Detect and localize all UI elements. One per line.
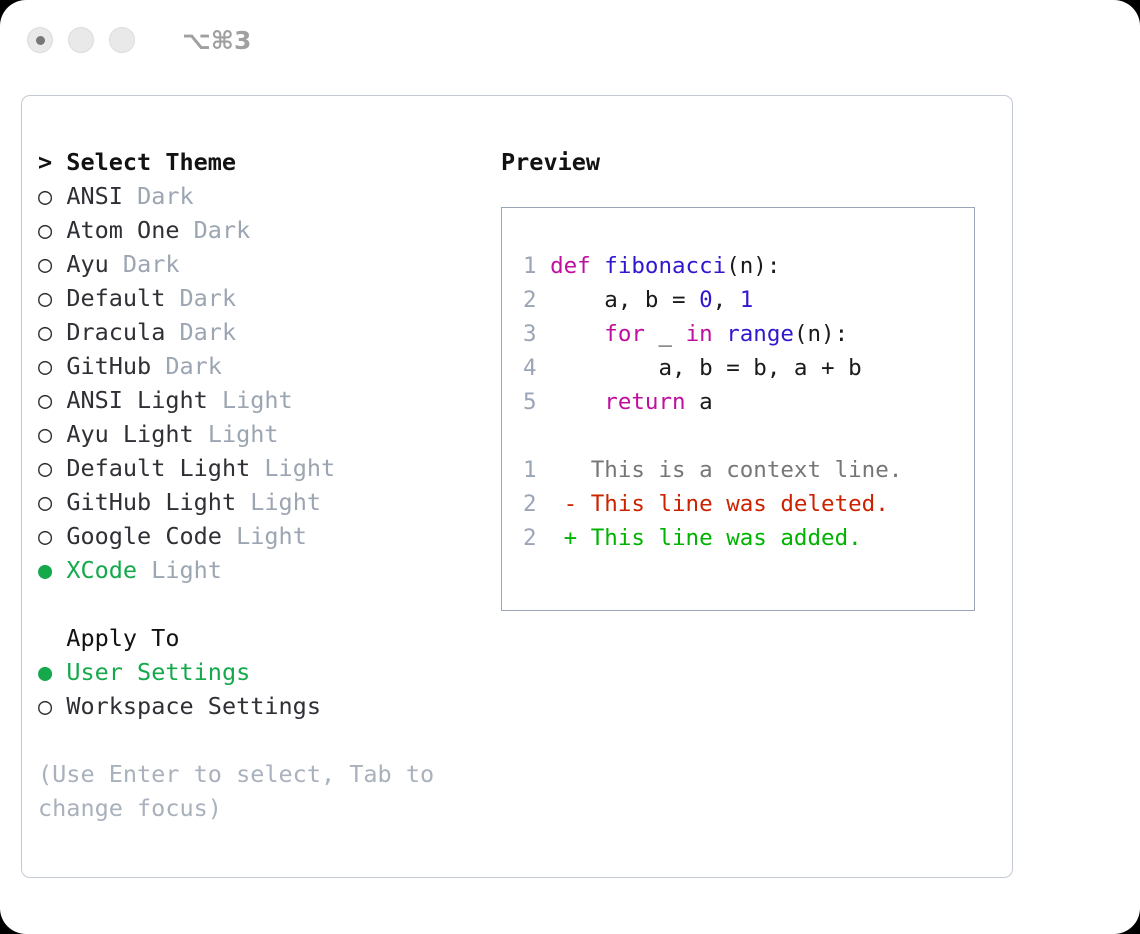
code-line: 4 a, b = b, a + b xyxy=(523,351,974,385)
theme-name: Ayu Light xyxy=(66,420,193,448)
window-dot-two[interactable] xyxy=(68,27,94,53)
theme-name: GitHub Light xyxy=(66,488,236,516)
radio-unselected-icon: ○ xyxy=(38,250,52,278)
code-token: def xyxy=(550,253,591,279)
diff-sample: 1 This is a context line.2 - This line w… xyxy=(523,453,974,555)
theme-name: Dracula xyxy=(66,318,165,346)
diff-sign: + xyxy=(564,525,578,551)
radio-unselected-icon: ○ xyxy=(38,522,52,550)
content-window-frame: > Select Theme ○ ANSI Dark○ Atom One Dar… xyxy=(21,95,1013,878)
theme-name: Atom One xyxy=(66,216,179,244)
diff-line: 2 + This line was added. xyxy=(523,521,974,555)
theme-name: GitHub xyxy=(66,352,151,380)
radio-selected-icon: ● xyxy=(38,556,52,584)
theme-variant-badge: Light xyxy=(222,386,293,414)
diff-text: This is a context line. xyxy=(577,457,902,483)
code-line: 5 return a xyxy=(523,385,974,419)
theme-row[interactable]: ○ Dracula Dark xyxy=(38,315,488,349)
theme-variant-badge: Light xyxy=(151,556,222,584)
code-line: 1 def fibonacci(n): xyxy=(523,249,974,283)
theme-name: Default xyxy=(66,284,165,312)
diff-line-number: 2 xyxy=(523,525,537,551)
code-token xyxy=(713,321,727,347)
apply-to-heading: Apply To xyxy=(38,621,488,655)
radio-unselected-icon: ○ xyxy=(38,352,52,380)
diff-sign xyxy=(564,457,578,483)
code-line-number: 2 xyxy=(523,287,537,313)
radio-unselected-icon: ○ xyxy=(38,454,52,482)
code-token: a, b = xyxy=(550,287,699,313)
theme-variant-badge: Dark xyxy=(123,250,180,278)
select-theme-heading: > Select Theme xyxy=(38,145,488,179)
code-token: in xyxy=(686,321,713,347)
code-sample: 1 def fibonacci(n):2 a, b = 0, 13 for _ … xyxy=(523,249,974,419)
diff-line: 2 - This line was deleted. xyxy=(523,487,974,521)
radio-unselected-icon: ○ xyxy=(38,216,52,244)
window-dot-three[interactable] xyxy=(109,27,135,53)
theme-name: Ayu xyxy=(66,250,108,278)
theme-variant-badge: Light xyxy=(250,488,321,516)
preview-box: 1 def fibonacci(n):2 a, b = 0, 13 for _ … xyxy=(501,207,975,611)
theme-row[interactable]: ● XCode Light xyxy=(38,553,488,587)
code-line-number: 3 xyxy=(523,321,537,347)
theme-variant-badge: Dark xyxy=(194,216,251,244)
theme-row[interactable]: ○ Google Code Light xyxy=(38,519,488,553)
keyboard-hint-line-2: change focus) xyxy=(38,791,488,825)
diff-text: This line was added. xyxy=(577,525,861,551)
theme-row[interactable]: ○ ANSI Dark xyxy=(38,179,488,213)
preview-spacer xyxy=(523,419,974,453)
keyboard-shortcut-label: ⌥⌘3 xyxy=(182,26,251,55)
keyboard-hint: (Use Enter to select, Tab to change focu… xyxy=(38,757,488,825)
radio-unselected-icon: ○ xyxy=(38,284,52,312)
code-token xyxy=(550,321,604,347)
theme-row[interactable]: ○ GitHub Dark xyxy=(38,349,488,383)
diff-line-number: 2 xyxy=(523,491,537,517)
diff-line-number: 1 xyxy=(523,457,537,483)
code-token: return xyxy=(604,389,685,415)
apply-to-section: Apply To ● User Settings○ Workspace Sett… xyxy=(38,621,488,723)
code-token: for xyxy=(604,321,645,347)
theme-row[interactable]: ○ ANSI Light Light xyxy=(38,383,488,417)
code-line: 2 a, b = 0, 1 xyxy=(523,283,974,317)
preview-heading: Preview xyxy=(501,145,1001,179)
theme-row[interactable]: ○ Atom One Dark xyxy=(38,213,488,247)
theme-variant-badge: Dark xyxy=(165,352,222,380)
active-indicator-dot xyxy=(36,36,45,45)
code-token: a xyxy=(686,389,713,415)
theme-variant-badge: Light xyxy=(236,522,307,550)
window-dot-active[interactable] xyxy=(27,27,53,53)
code-token xyxy=(591,253,605,279)
app-window: ⌥⌘3 > Select Theme ○ ANSI Dark○ Atom One… xyxy=(0,0,1140,934)
code-token: _ xyxy=(645,321,686,347)
radio-unselected-icon: ○ xyxy=(38,692,52,720)
theme-variant-badge: Light xyxy=(264,454,335,482)
code-token: (n): xyxy=(794,321,848,347)
code-token: fibonacci xyxy=(604,253,726,279)
keyboard-hint-line-1: (Use Enter to select, Tab to xyxy=(38,757,488,791)
theme-row[interactable]: ○ Default Light Light xyxy=(38,451,488,485)
radio-unselected-icon: ○ xyxy=(38,386,52,414)
title-bar: ⌥⌘3 xyxy=(0,0,1140,80)
theme-row[interactable]: ○ Ayu Light Light xyxy=(38,417,488,451)
theme-name: ANSI Light xyxy=(66,386,207,414)
code-token: a, b = b, a + b xyxy=(550,355,862,381)
code-line: 3 for _ in range(n): xyxy=(523,317,974,351)
code-token: 0 xyxy=(699,287,713,313)
theme-name: Google Code xyxy=(66,522,222,550)
theme-selector-panel: > Select Theme ○ ANSI Dark○ Atom One Dar… xyxy=(38,145,488,825)
theme-name: XCode xyxy=(66,556,137,584)
apply-to-option[interactable]: ● User Settings xyxy=(38,655,488,689)
code-token xyxy=(550,389,604,415)
code-line-number: 4 xyxy=(523,355,537,381)
preview-panel: Preview 1 def fibonacci(n):2 a, b = 0, 1… xyxy=(501,145,1001,611)
diff-text: This line was deleted. xyxy=(577,491,889,517)
theme-row[interactable]: ○ GitHub Light Light xyxy=(38,485,488,519)
apply-to-option-label: User Settings xyxy=(66,658,250,686)
code-token: 1 xyxy=(740,287,754,313)
code-line-number: 5 xyxy=(523,389,537,415)
radio-unselected-icon: ○ xyxy=(38,318,52,346)
code-token: , xyxy=(713,287,740,313)
radio-selected-icon: ● xyxy=(38,658,52,686)
code-token: (n): xyxy=(726,253,780,279)
diff-sign: - xyxy=(564,491,578,517)
theme-variant-badge: Dark xyxy=(180,318,237,346)
theme-row[interactable]: ○ Default Dark xyxy=(38,281,488,315)
theme-name: Default Light xyxy=(66,454,250,482)
radio-unselected-icon: ○ xyxy=(38,182,52,210)
theme-row[interactable]: ○ Ayu Dark xyxy=(38,247,488,281)
theme-list: ○ ANSI Dark○ Atom One Dark○ Ayu Dark○ De… xyxy=(38,179,488,587)
radio-unselected-icon: ○ xyxy=(38,488,52,516)
radio-unselected-icon: ○ xyxy=(38,420,52,448)
theme-variant-badge: Light xyxy=(208,420,279,448)
apply-to-option-label: Workspace Settings xyxy=(66,692,321,720)
code-line-number: 1 xyxy=(523,253,537,279)
theme-variant-badge: Dark xyxy=(180,284,237,312)
theme-name: ANSI xyxy=(66,182,123,210)
code-token: range xyxy=(726,321,794,347)
theme-variant-badge: Dark xyxy=(137,182,194,210)
apply-to-list: ● User Settings○ Workspace Settings xyxy=(38,655,488,723)
diff-line: 1 This is a context line. xyxy=(523,453,974,487)
apply-to-option[interactable]: ○ Workspace Settings xyxy=(38,689,488,723)
